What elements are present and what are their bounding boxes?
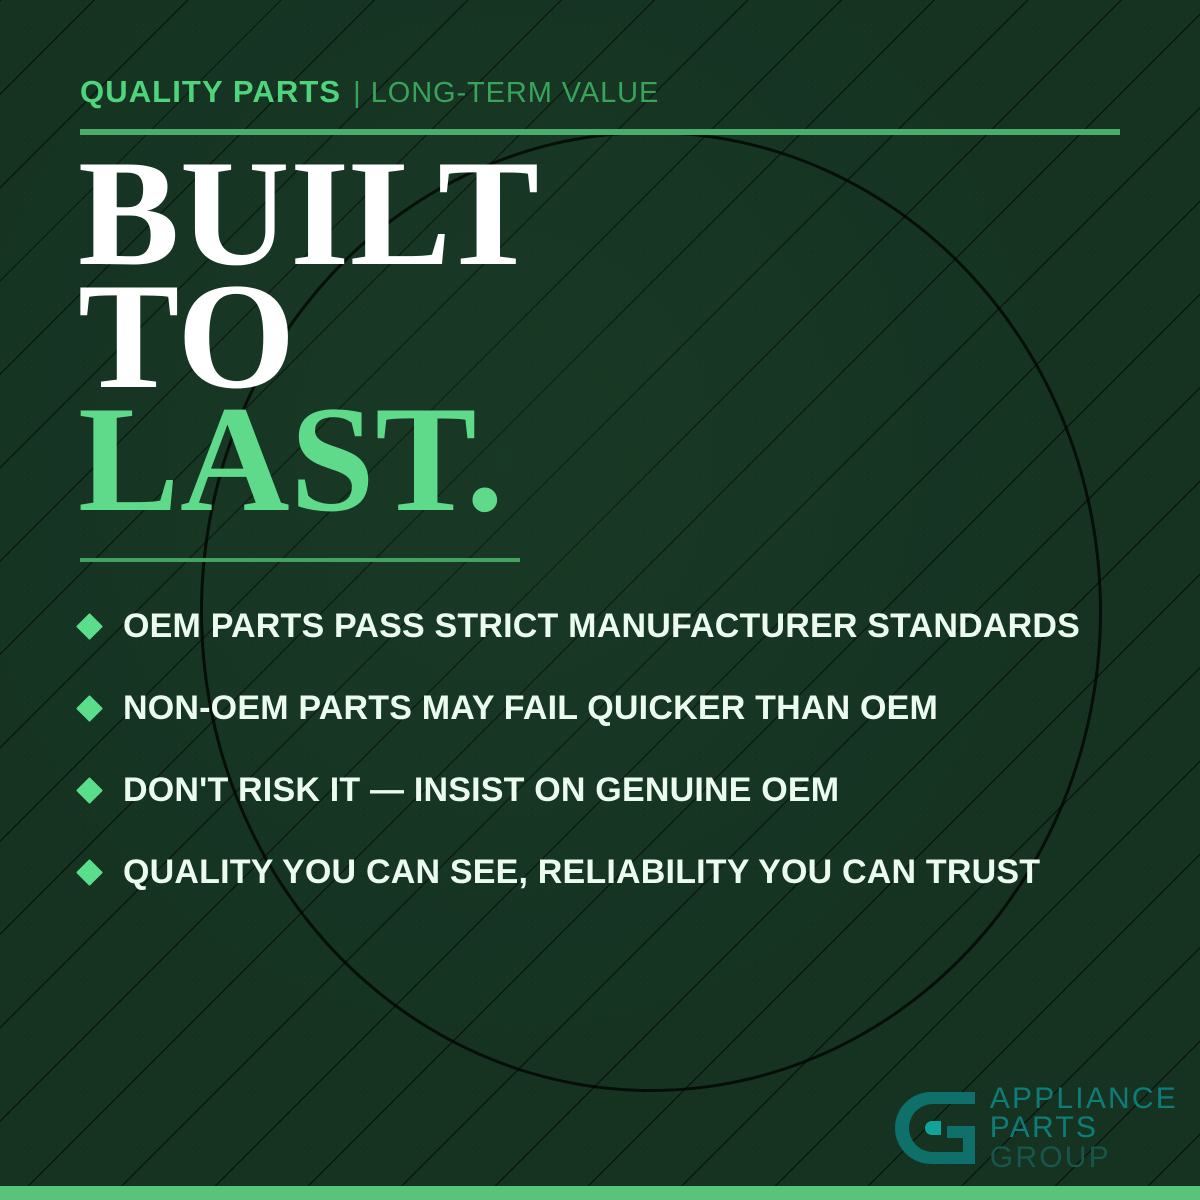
logo-word-line-2: PARTS xyxy=(990,1113,1178,1142)
logo-wordmark: APPLIANCE PARTS GROUP xyxy=(990,1084,1178,1172)
list-item: OEM PARTS PASS STRICT MANUFACTURER STAND… xyxy=(80,585,1160,667)
promotional-poster: QUALITY PARTS | LONG-TERM VALUE BUILT TO… xyxy=(0,0,1200,1200)
logo-word-line-3: GROUP xyxy=(990,1143,1178,1172)
list-item: NON-OEM PARTS MAY FAIL QUICKER THAN OEM xyxy=(80,667,1160,749)
bottom-accent-bar xyxy=(0,1186,1200,1200)
brand-logo: APPLIANCE PARTS GROUP xyxy=(891,1084,1178,1172)
diamond-bullet-icon xyxy=(76,859,103,886)
diamond-bullet-icon xyxy=(76,777,103,804)
list-item-label: OEM PARTS PASS STRICT MANUFACTURER STAND… xyxy=(123,607,1080,646)
headline: BUILT TO LAST. xyxy=(78,152,540,521)
list-item: QUALITY YOU CAN SEE, RELIABILITY YOU CAN… xyxy=(80,831,1160,913)
eyebrow-separator: | xyxy=(353,77,361,110)
diamond-bullet-icon xyxy=(76,613,103,640)
eyebrow-strong-label: QUALITY PARTS xyxy=(80,74,341,110)
list-item-label: NON-OEM PARTS MAY FAIL QUICKER THAN OEM xyxy=(123,689,938,728)
headline-line-3: LAST. xyxy=(78,398,540,521)
diamond-bullet-icon xyxy=(76,695,103,722)
eyebrow-sub-label: LONG-TERM VALUE xyxy=(371,77,660,110)
eyebrow: QUALITY PARTS | LONG-TERM VALUE xyxy=(80,74,659,110)
list-item-label: DON'T RISK IT — INSIST ON GENUINE OEM xyxy=(123,771,839,810)
list-item: DON'T RISK IT — INSIST ON GENUINE OEM xyxy=(80,749,1160,831)
headline-divider-rule xyxy=(80,558,520,562)
appliance-parts-group-g-mark-icon xyxy=(891,1086,979,1170)
list-item-label: QUALITY YOU CAN SEE, RELIABILITY YOU CAN… xyxy=(123,853,1040,892)
logo-word-line-1: APPLIANCE xyxy=(990,1084,1178,1113)
benefits-list: OEM PARTS PASS STRICT MANUFACTURER STAND… xyxy=(80,585,1160,913)
